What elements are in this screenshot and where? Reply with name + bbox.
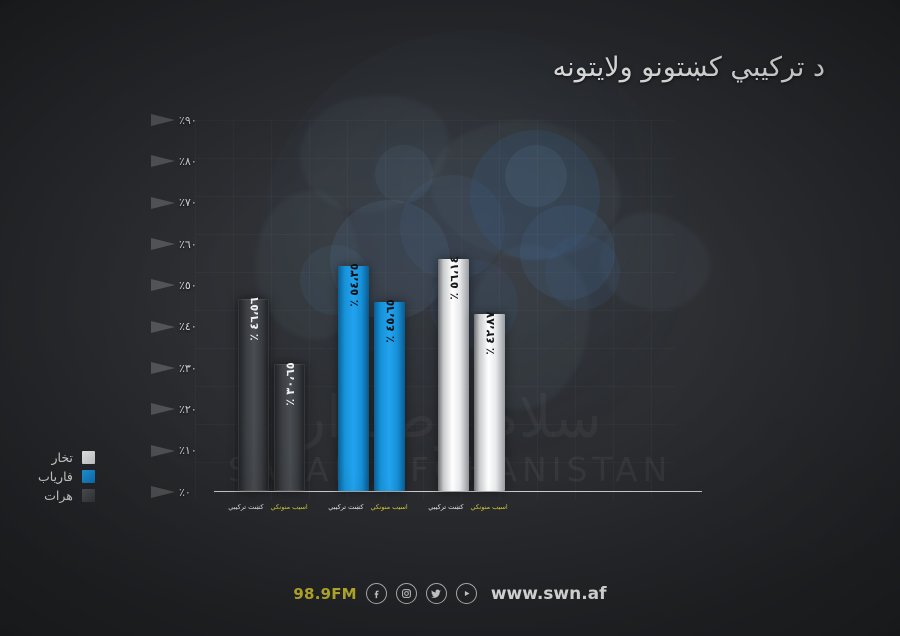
chart-canvas: د ترکیبي کښتونو ولایتونه سلام وطندار SAL… [0, 0, 900, 636]
radio-frequency: 98.9FM [293, 585, 356, 603]
y-axis-tick-label: ٣٠٪ [179, 362, 197, 375]
legend-item[interactable]: هرات [38, 488, 95, 503]
x-label-vulnerable: اسیب منونکي [470, 503, 507, 511]
y-axis-tick-label: ٧٠٪ [179, 196, 197, 209]
x-label-mixed-crop: کښت ترکیبي [228, 503, 263, 511]
website-url: www.swn.af [491, 584, 607, 604]
bar-value-label: ٤٦،٥٦ ٪ [247, 297, 261, 340]
tick-arrow-icon [151, 155, 175, 167]
bar[interactable]: ٤٦،٥٦ ٪ [238, 299, 269, 491]
y-axis-tick: ٦٠٪ [150, 236, 220, 252]
bar-group: ٤٦،٥٦ ٪٣٠،٦٥ ٪اسیب منونکيکښت ترکیبي [220, 119, 316, 491]
x-axis-group-label: اسیب منونکيکښت ترکیبي [420, 503, 516, 511]
footer-bar: 98.9FM www.swn.af [0, 583, 900, 604]
tick-arrow-icon [151, 445, 175, 457]
bar-value-label: ٣٠،٦٥ ٪ [283, 363, 297, 406]
facebook-icon[interactable] [366, 583, 387, 604]
y-axis-tick-label: ٨٠٪ [179, 155, 197, 168]
y-axis-tick: ٥٠٪ [150, 277, 220, 293]
y-axis-tick-label: ٦٠٪ [179, 238, 197, 251]
legend-label: فاریاب [38, 469, 73, 484]
x-label-mixed-crop: کښت ترکیبي [328, 503, 363, 511]
y-axis-tick-label: ٥٠٪ [179, 279, 197, 292]
tick-arrow-icon [151, 486, 175, 498]
y-axis-tick: ٣٠٪ [150, 360, 220, 376]
legend-swatch [82, 470, 95, 483]
bar[interactable]: ٣٠،٦٥ ٪ [274, 364, 305, 491]
legend-item[interactable]: تخار [38, 450, 95, 465]
bar[interactable]: ٥٦،١٤ ٪ [438, 259, 469, 491]
y-axis-tick-label: ٤٠٪ [179, 320, 197, 333]
bar-value-label: ٥٦،١٤ ٪ [447, 256, 461, 299]
y-axis-tick: ٩٠٪ [150, 112, 220, 128]
y-axis-tick: ٢٠٪ [150, 401, 220, 417]
x-axis-group-label: اسیب منونکيکښت ترکیبي [220, 503, 316, 511]
instagram-icon[interactable] [396, 583, 417, 604]
bar[interactable]: ٥٤،٣٥ ٪ [338, 266, 369, 491]
y-axis-tick: ١٠٪ [150, 443, 220, 459]
tick-arrow-icon [151, 321, 175, 333]
bar-value-label: ٤٢،٨٧ ٪ [483, 311, 497, 354]
tick-arrow-icon [151, 279, 175, 291]
x-label-vulnerable: اسیب منونکي [270, 503, 307, 511]
y-axis-tick-label: ٢٠٪ [179, 403, 197, 416]
y-axis-tick: ٠٪ [150, 484, 220, 500]
plot-area: ٥٦،١٤ ٪٤٢،٨٧ ٪اسیب منونکيکښت ترکیبي٥٤،٣٥… [224, 120, 690, 492]
legend-label: تخار [51, 450, 72, 465]
twitter-icon[interactable] [426, 583, 447, 604]
y-axis-tick: ٤٠٪ [150, 319, 220, 335]
chart-legend: تخارفاریابهرات [38, 450, 95, 503]
tick-arrow-icon [151, 362, 175, 374]
youtube-icon[interactable] [456, 583, 477, 604]
legend-label: هرات [44, 488, 73, 503]
x-label-mixed-crop: کښت ترکیبي [428, 503, 463, 511]
legend-item[interactable]: فاریاب [38, 469, 95, 484]
tick-arrow-icon [151, 403, 175, 415]
y-axis-tick: ٧٠٪ [150, 195, 220, 211]
y-axis-tick-label: ٠٪ [179, 486, 191, 499]
tick-arrow-icon [151, 114, 175, 126]
y-axis-tick: ٨٠٪ [150, 153, 220, 169]
tick-arrow-icon [151, 238, 175, 250]
bar-group: ٥٤،٣٥ ٪٤٥،٦٥ ٪اسیب منونکيکښت ترکیبي [320, 119, 416, 491]
x-label-vulnerable: اسیب منونکي [370, 503, 407, 511]
bar[interactable]: ٤٢،٨٧ ٪ [474, 314, 505, 491]
y-axis-tick-label: ٩٠٪ [179, 114, 197, 127]
bar-value-label: ٤٥،٦٥ ٪ [383, 300, 397, 343]
legend-swatch [82, 489, 95, 502]
bar[interactable]: ٤٥،٦٥ ٪ [374, 302, 405, 491]
bar-chart: ٩٠٪٨٠٪٧٠٪٦٠٪٥٠٪٤٠٪٣٠٪٢٠٪١٠٪٠٪ ٥٦،١٤ ٪٤٢،… [150, 120, 690, 500]
x-axis-group-label: اسیب منونکيکښت ترکیبي [320, 503, 416, 511]
bar-value-label: ٥٤،٣٥ ٪ [347, 264, 361, 307]
page-title: د ترکیبي کښتونو ولایتونه [553, 52, 825, 83]
y-axis-tick-label: ١٠٪ [179, 444, 197, 457]
legend-swatch [82, 451, 95, 464]
tick-arrow-icon [151, 197, 175, 209]
x-axis-baseline [214, 491, 702, 492]
bar-group: ٥٦،١٤ ٪٤٢،٨٧ ٪اسیب منونکيکښت ترکیبي [420, 119, 516, 491]
